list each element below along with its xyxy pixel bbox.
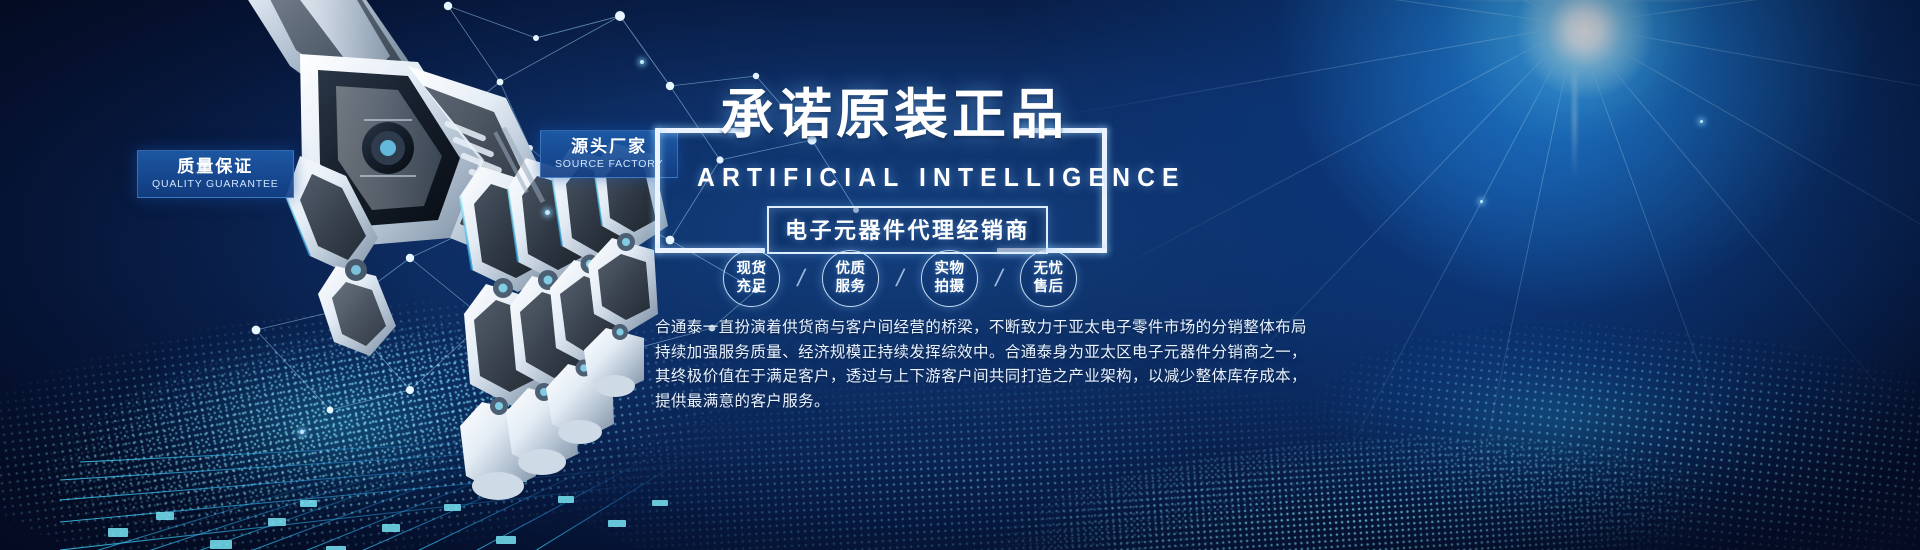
paragraph-line: 合通泰一直扮演着供货商与客户间经营的桥梁，不断致力于亚太电子零件市场的分销整体布… [655,316,1317,341]
label-quality-guarantee-cn: 质量保证 [152,157,279,177]
frame-corner-top-left-vertical [655,128,660,253]
badge-line-1: 无忧 [1034,261,1064,278]
feature-badge-list: 现货 充足 / 优质 服务 / 实物 拍摄 / 无忧 售后 [723,250,1077,307]
badge-line-2: 售后 [1034,279,1064,296]
banner-root: 质量保证 QUALITY GUARANTEE 源头厂家 SOURCE FACTO… [0,0,1920,550]
label-source-factory-en: SOURCE FACTORY [555,158,663,170]
subtitle-box: 电子元器件代理经销商 [767,206,1048,254]
description-paragraph: 合通泰一直扮演着供货商与客户间经营的桥梁，不断致力于亚太电子零件市场的分销整体布… [655,316,1317,414]
badge-line-2: 拍摄 [935,279,965,296]
badge-real-photo: 实物 拍摄 [921,250,978,307]
badge-worry-free-after-sales: 无忧 售后 [1020,250,1077,307]
spark [545,210,550,215]
spark [300,430,304,434]
badge-separator: / [777,265,825,293]
page-title: 承诺原装正品 [720,70,1068,149]
badge-line-2: 充足 [737,279,767,296]
badge-separator: / [876,265,924,293]
label-quality-guarantee-en: QUALITY GUARANTEE [152,178,279,190]
badge-stock-sufficient: 现货 充足 [723,250,780,307]
headline-block: 承诺原装正品 ARTIFICIAL INTELLIGENCE 电子元器件代理经销… [655,78,1335,253]
badge-quality-service: 优质 服务 [822,250,879,307]
badge-line-1: 优质 [836,261,866,278]
badge-separator: / [975,265,1023,293]
spark [1480,200,1483,203]
subtitle-english: ARTIFICIAL INTELLIGENCE [697,162,1186,193]
label-source-factory-cn: 源头厂家 [555,137,663,157]
spark [640,60,644,64]
label-quality-guarantee: 质量保证 QUALITY GUARANTEE [137,150,294,198]
badge-line-1: 现货 [737,261,767,278]
paragraph-line: 提供最满意的客户服务。 [655,390,1317,415]
spark [1700,120,1703,123]
headline-frame: 承诺原装正品 ARTIFICIAL INTELLIGENCE 电子元器件代理经销… [655,78,1107,253]
paragraph-line: 其终极价值在于满足客户，透过与上下游客户间共同打造之产业架构，以减少整体库存成本… [655,365,1317,390]
badge-line-2: 服务 [836,279,866,296]
paragraph-line: 持续加强服务质量、经济规模正持续发挥综效中。合通泰身为亚太区电子元器件分销商之一… [655,341,1317,366]
badge-line-1: 实物 [935,261,965,278]
subtitle-chinese: 电子元器件代理经销商 [785,218,1030,243]
